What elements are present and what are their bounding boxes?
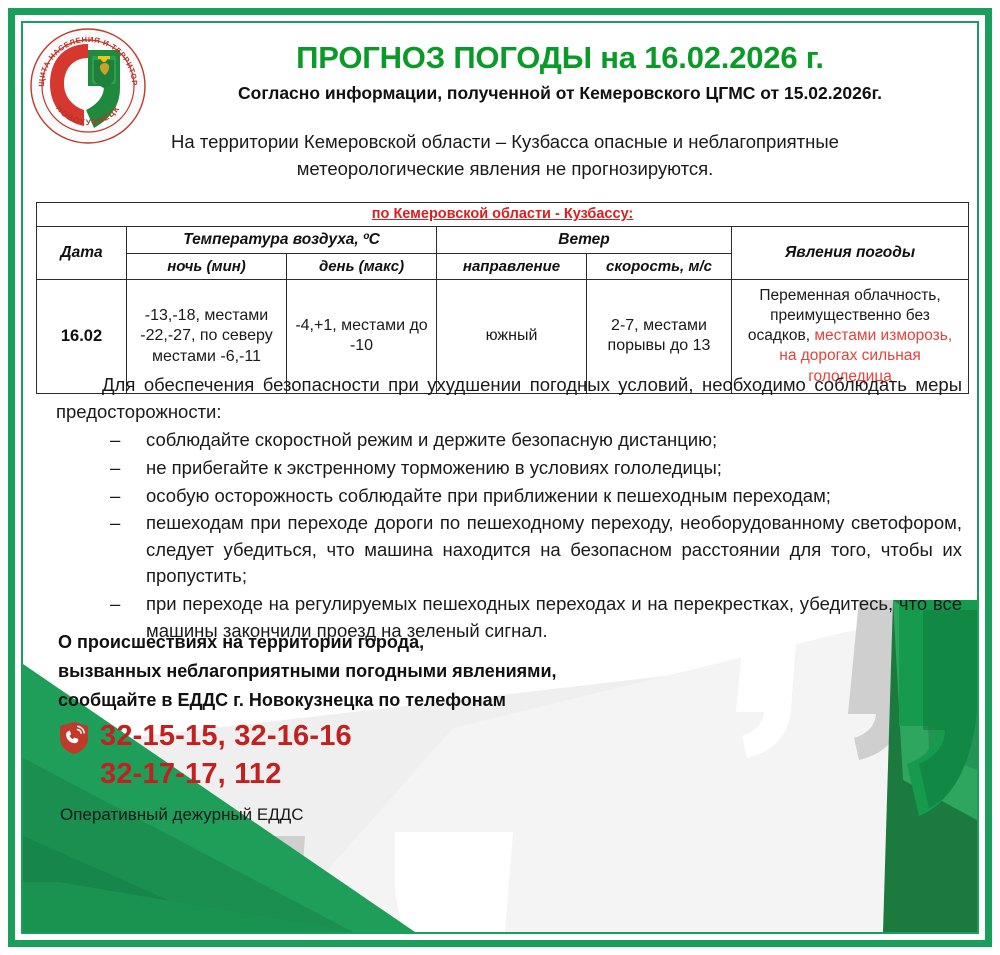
forecast-table-wrapper: по Кемеровской области - Кузбассу: Дата … — [36, 202, 968, 394]
page-title: ПРОГНОЗ ПОГОДЫ на 16.02.2026 г. — [150, 40, 970, 77]
phone-numbers: 32-15-15, 32-16-16 32-17-17, 112 — [100, 718, 352, 793]
duty-officer-label: Оперативный дежурный ЕДДС — [60, 805, 304, 825]
contact-block: О происшествиях на территории города, вы… — [58, 628, 678, 715]
safety-measures: Для обеспечения безопасности при ухудшен… — [56, 372, 962, 645]
header-wind-speed: скорость, м/с — [587, 254, 732, 280]
weather-forecast-poster: ЗАЩИТА НАСЕЛЕНИЯ И ТЕРРИТОРИЙ НОВОКУЗНЕЦ… — [0, 0, 1000, 955]
header-wind-direction: направление — [437, 254, 587, 280]
region-header: по Кемеровской области - Кузбассу: — [37, 203, 969, 227]
header-temp-night: ночь (мин) — [127, 254, 287, 280]
contact-line-3: сообщайте в ЕДДС г. Новокузнецка по теле… — [58, 686, 678, 715]
contact-line-2: вызванных неблагоприятными погодными явл… — [58, 657, 678, 686]
header-date: Дата — [37, 227, 127, 280]
header: ПРОГНОЗ ПОГОДЫ на 16.02.2026 г. Согласно… — [150, 40, 970, 104]
list-item: не прибегайте к экстренному торможению в… — [100, 455, 962, 482]
table-header-row-1: Дата Температура воздуха, ºC Ветер Явлен… — [37, 227, 969, 254]
header-wind-group: Ветер — [437, 227, 732, 254]
table-region-header-row: по Кемеровской области - Кузбассу: — [37, 203, 969, 227]
phone-numbers-line-1: 32-15-15, 32-16-16 — [100, 720, 352, 752]
phone-numbers-line-2: 32-17-17, 112 — [100, 758, 282, 790]
page-subtitle: Согласно информации, полученной от Кемер… — [150, 83, 970, 104]
forecast-table: по Кемеровской области - Кузбассу: Дата … — [36, 202, 969, 394]
header-phenomena: Явления погоды — [732, 227, 969, 280]
list-item: соблюдайте скоростной режим и держите бе… — [100, 427, 962, 454]
header-temperature-group: Температура воздуха, ºC — [127, 227, 437, 254]
contact-line-1: О происшествиях на территории города, — [58, 628, 678, 657]
phone-block: 32-15-15, 32-16-16 32-17-17, 112 — [58, 718, 658, 793]
phone-shield-icon — [58, 721, 90, 755]
measures-list: соблюдайте скоростной режим и держите бе… — [56, 427, 962, 644]
list-item: особую осторожность соблюдайте при прибл… — [100, 483, 962, 510]
header-temp-day: день (макс) — [287, 254, 437, 280]
list-item: пешеходам при переходе дороги по пешеход… — [100, 510, 962, 590]
intro-paragraph: На территории Кемеровской области – Кузб… — [110, 128, 900, 183]
measures-lead: Для обеспечения безопасности при ухудшен… — [56, 372, 962, 425]
